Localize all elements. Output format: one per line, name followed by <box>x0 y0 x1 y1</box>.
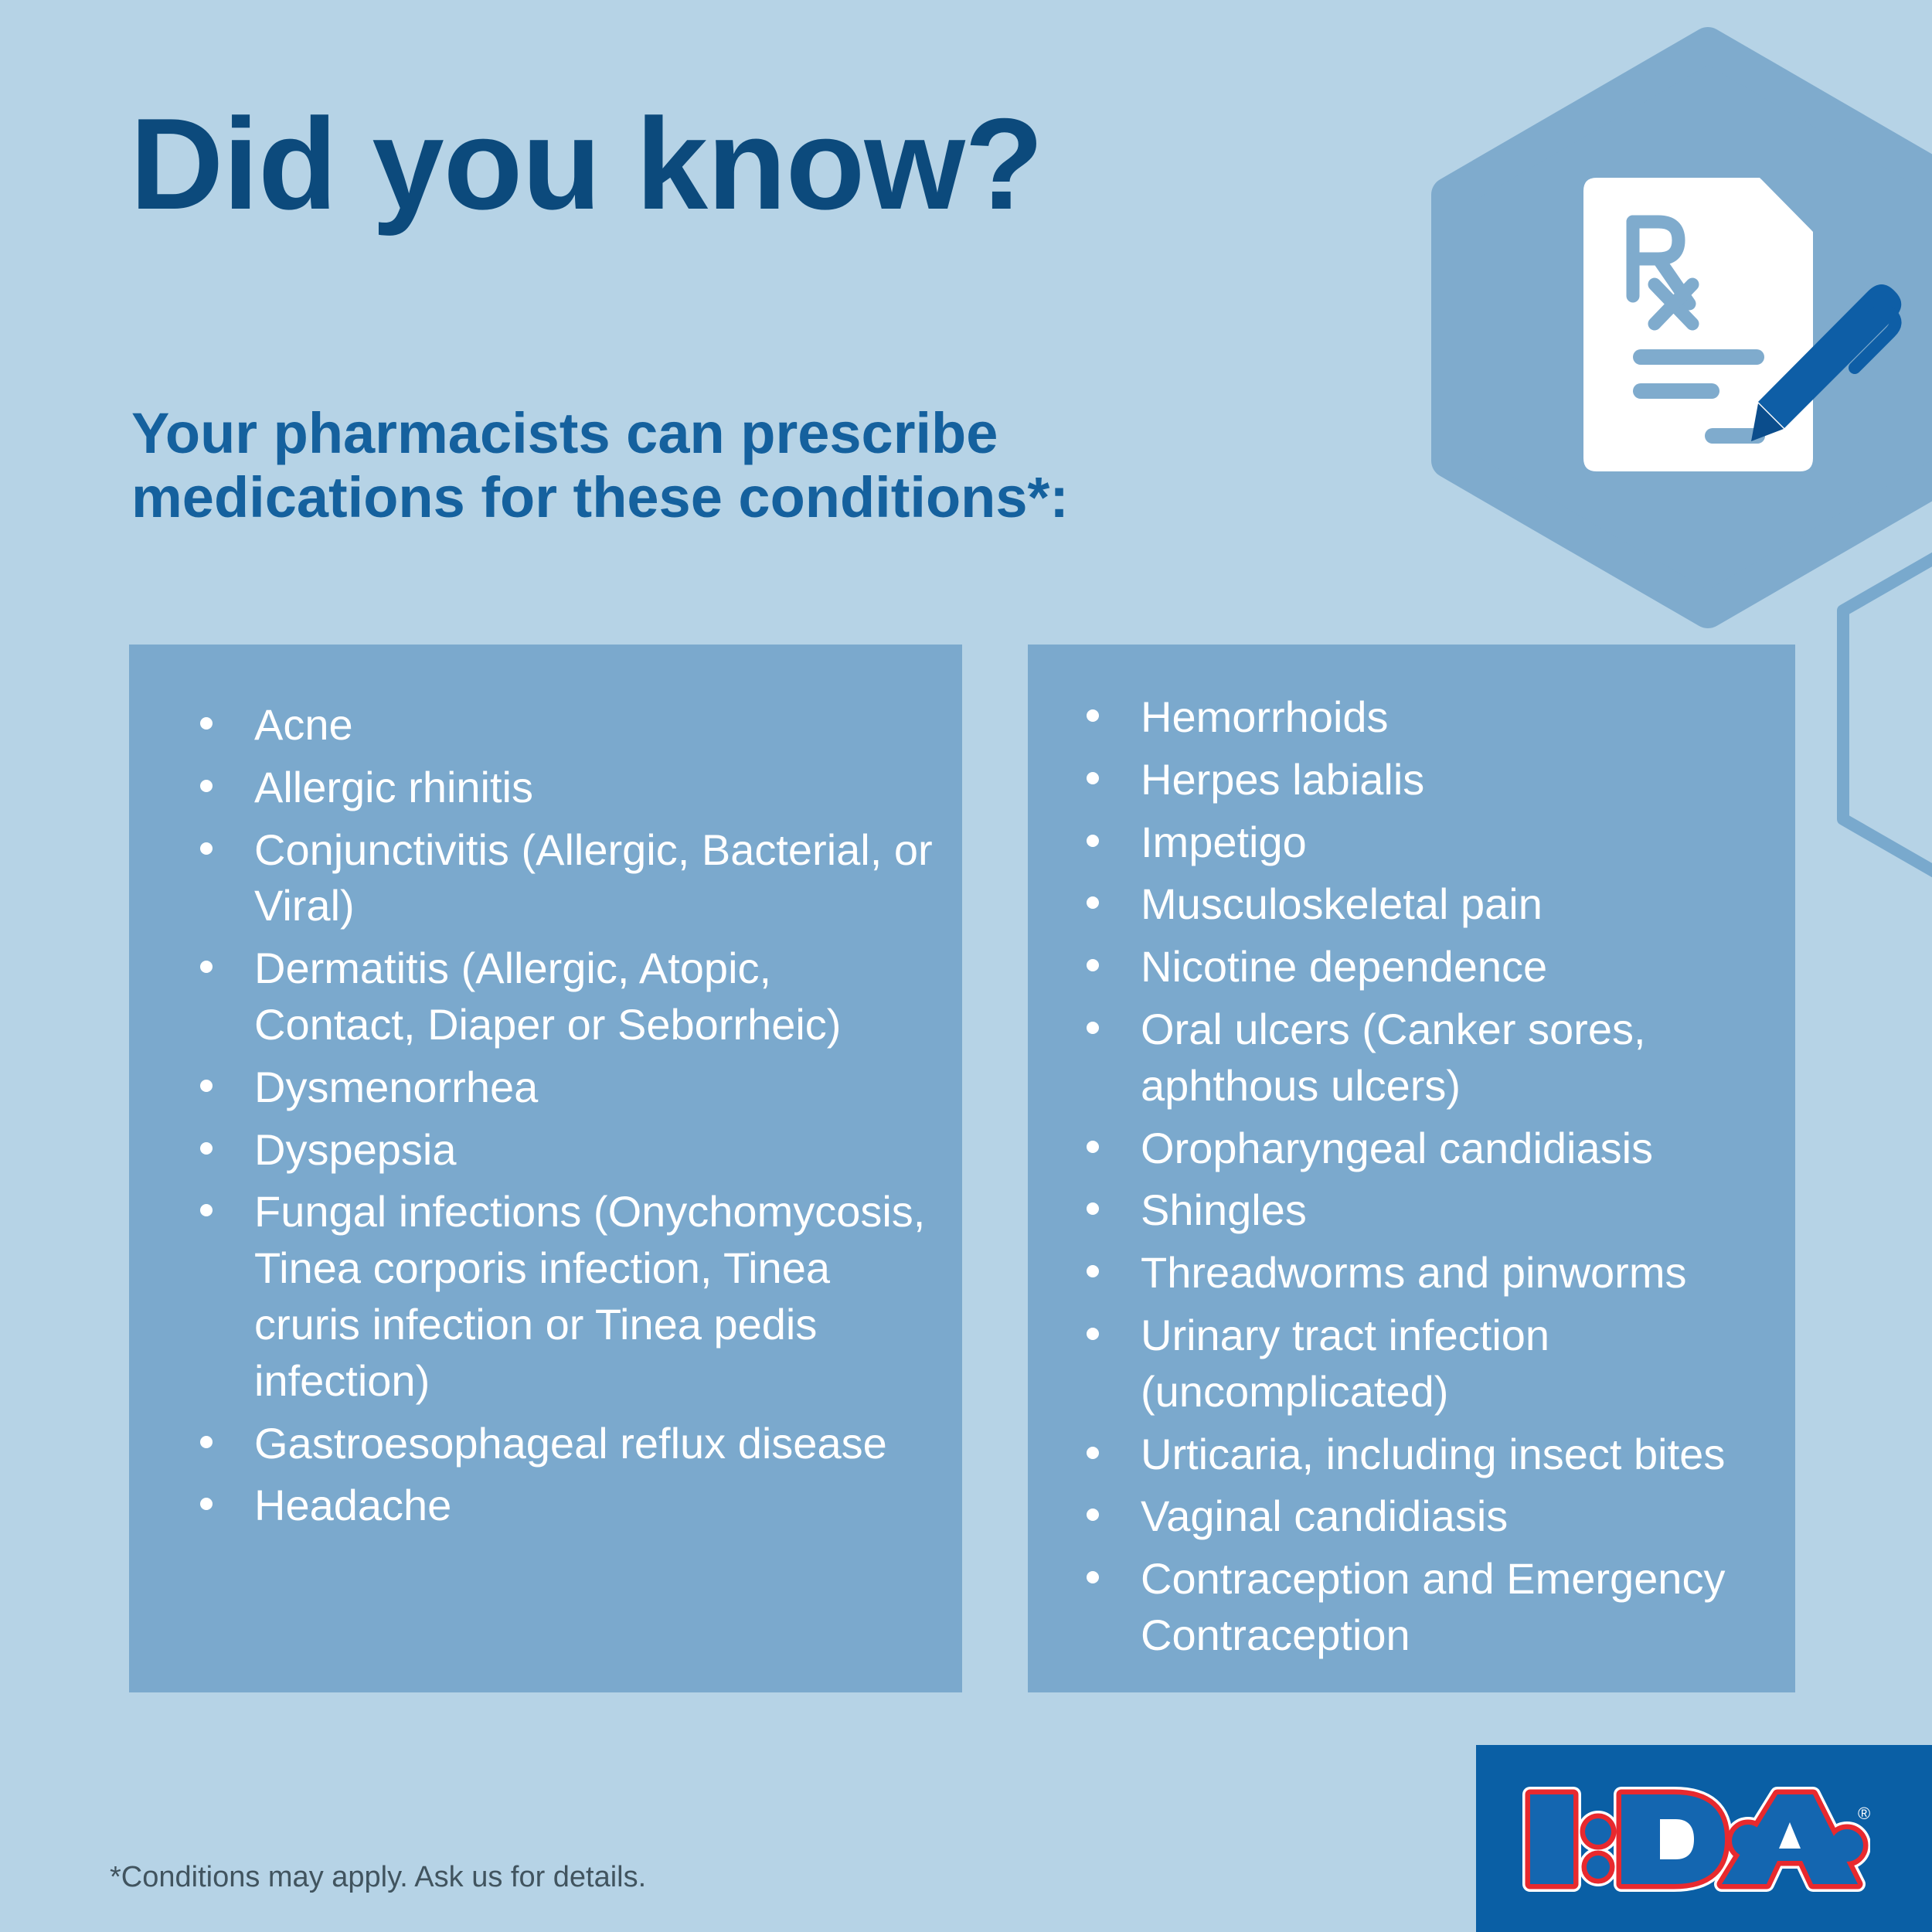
condition-label: Musculoskeletal pain <box>1141 876 1780 933</box>
condition-label: Herpes labialis <box>1141 752 1780 808</box>
condition-list-item: Herpes labialis <box>1076 752 1780 808</box>
condition-list-item: Vaginal candidiasis <box>1076 1488 1780 1545</box>
condition-label: Urinary tract infection (uncomplicated) <box>1141 1308 1780 1420</box>
page-subtitle: Your pharmacists can prescribe medicatio… <box>131 402 1368 530</box>
condition-label: Acne <box>254 697 939 753</box>
condition-list-item: Oropharyngeal candidiasis <box>1076 1121 1780 1177</box>
condition-label: Threadworms and pinworms <box>1141 1245 1780 1301</box>
bullet-icon <box>1087 772 1099 784</box>
condition-list-item: Musculoskeletal pain <box>1076 876 1780 933</box>
condition-label: Dyspepsia <box>254 1122 939 1179</box>
condition-label: Dermatitis (Allergic, Atopic, Contact, D… <box>254 940 939 1053</box>
bullet-icon <box>1087 1022 1099 1034</box>
registered-mark: ® <box>1858 1804 1870 1823</box>
conditions-list-right: HemorrhoidsHerpes labialisImpetigoMuscul… <box>1028 645 1795 1664</box>
bullet-icon <box>200 842 213 855</box>
condition-list-item: Oral ulcers (Canker sores, aphthous ulce… <box>1076 1002 1780 1114</box>
condition-label: Headache <box>254 1478 939 1534</box>
condition-list-item: Acne <box>189 697 939 753</box>
rx-symbol <box>1633 222 1692 324</box>
condition-list-item: Dyspepsia <box>189 1122 939 1179</box>
pen-icon <box>1751 284 1901 441</box>
bullet-icon <box>200 1142 213 1155</box>
condition-label: Gastroesophageal reflux disease <box>254 1416 939 1472</box>
ida-logo-mark: ® <box>1522 1785 1870 1893</box>
bullet-icon <box>1087 1202 1099 1215</box>
condition-list-item: Urinary tract infection (uncomplicated) <box>1076 1308 1780 1420</box>
subtitle-line-1: Your pharmacists can prescribe <box>131 401 998 465</box>
condition-list-item: Nicotine dependence <box>1076 939 1780 995</box>
hexagon-outline-icon <box>1843 506 1932 923</box>
condition-list-item: Gastroesophageal reflux disease <box>189 1416 939 1472</box>
bullet-icon <box>200 1080 213 1092</box>
condition-label: Dysmenorrhea <box>254 1060 939 1116</box>
bullet-icon <box>1087 1328 1099 1340</box>
condition-label: Fungal infections (Onychomycosis, Tinea … <box>254 1184 939 1409</box>
bullet-icon <box>200 961 213 973</box>
condition-label: Oropharyngeal candidiasis <box>1141 1121 1780 1177</box>
page-title: Did you know? <box>130 99 1043 229</box>
condition-label: Conjunctivitis (Allergic, Bacterial, or … <box>254 822 939 935</box>
conditions-card-left: AcneAllergic rhinitisConjunctivitis (All… <box>129 645 962 1692</box>
condition-list-item: Allergic rhinitis <box>189 760 939 816</box>
bullet-icon <box>1087 709 1099 722</box>
bullet-icon <box>200 1436 213 1448</box>
bullet-icon <box>1087 1447 1099 1459</box>
subtitle-line-2: medications for these conditions*: <box>131 466 1368 530</box>
condition-list-item: Dysmenorrhea <box>189 1060 939 1116</box>
bullet-icon <box>1087 1141 1099 1153</box>
condition-label: Urticaria, including insect bites <box>1141 1427 1780 1483</box>
condition-list-item: Conjunctivitis (Allergic, Bacterial, or … <box>189 822 939 935</box>
bullet-icon <box>1087 896 1099 909</box>
bullet-icon <box>1087 1509 1099 1521</box>
bullet-icon <box>200 1498 213 1510</box>
condition-label: Shingles <box>1141 1182 1780 1239</box>
footnote: *Conditions may apply. Ask us for detail… <box>110 1861 646 1894</box>
condition-list-item: Hemorrhoids <box>1076 689 1780 746</box>
conditions-card-right: HemorrhoidsHerpes labialisImpetigoMuscul… <box>1028 645 1795 1692</box>
condition-label: Allergic rhinitis <box>254 760 939 816</box>
condition-list-item: Threadworms and pinworms <box>1076 1245 1780 1301</box>
ida-logo: ® <box>1476 1745 1932 1932</box>
condition-list-item: Fungal infections (Onychomycosis, Tinea … <box>189 1184 939 1409</box>
condition-label: Contraception and Emergency Contraceptio… <box>1141 1551 1780 1664</box>
conditions-list-left: AcneAllergic rhinitisConjunctivitis (All… <box>129 645 962 1534</box>
condition-list-item: Dermatitis (Allergic, Atopic, Contact, D… <box>189 940 939 1053</box>
bullet-icon <box>1087 1265 1099 1277</box>
hexagon-badge-icon <box>1449 45 1932 611</box>
condition-list-item: Contraception and Emergency Contraceptio… <box>1076 1551 1780 1664</box>
condition-list-item: Headache <box>189 1478 939 1534</box>
bullet-icon <box>200 1204 213 1216</box>
condition-list-item: Impetigo <box>1076 815 1780 871</box>
condition-list-item: Shingles <box>1076 1182 1780 1239</box>
bullet-icon <box>200 780 213 792</box>
bullet-icon <box>1087 1571 1099 1583</box>
condition-list-item: Urticaria, including insect bites <box>1076 1427 1780 1483</box>
condition-label: Nicotine dependence <box>1141 939 1780 995</box>
bullet-icon <box>1087 835 1099 847</box>
condition-label: Impetigo <box>1141 815 1780 871</box>
bullet-icon <box>1087 959 1099 971</box>
bullet-icon <box>200 717 213 730</box>
condition-label: Oral ulcers (Canker sores, aphthous ulce… <box>1141 1002 1780 1114</box>
condition-label: Vaginal candidiasis <box>1141 1488 1780 1545</box>
condition-label: Hemorrhoids <box>1141 689 1780 746</box>
